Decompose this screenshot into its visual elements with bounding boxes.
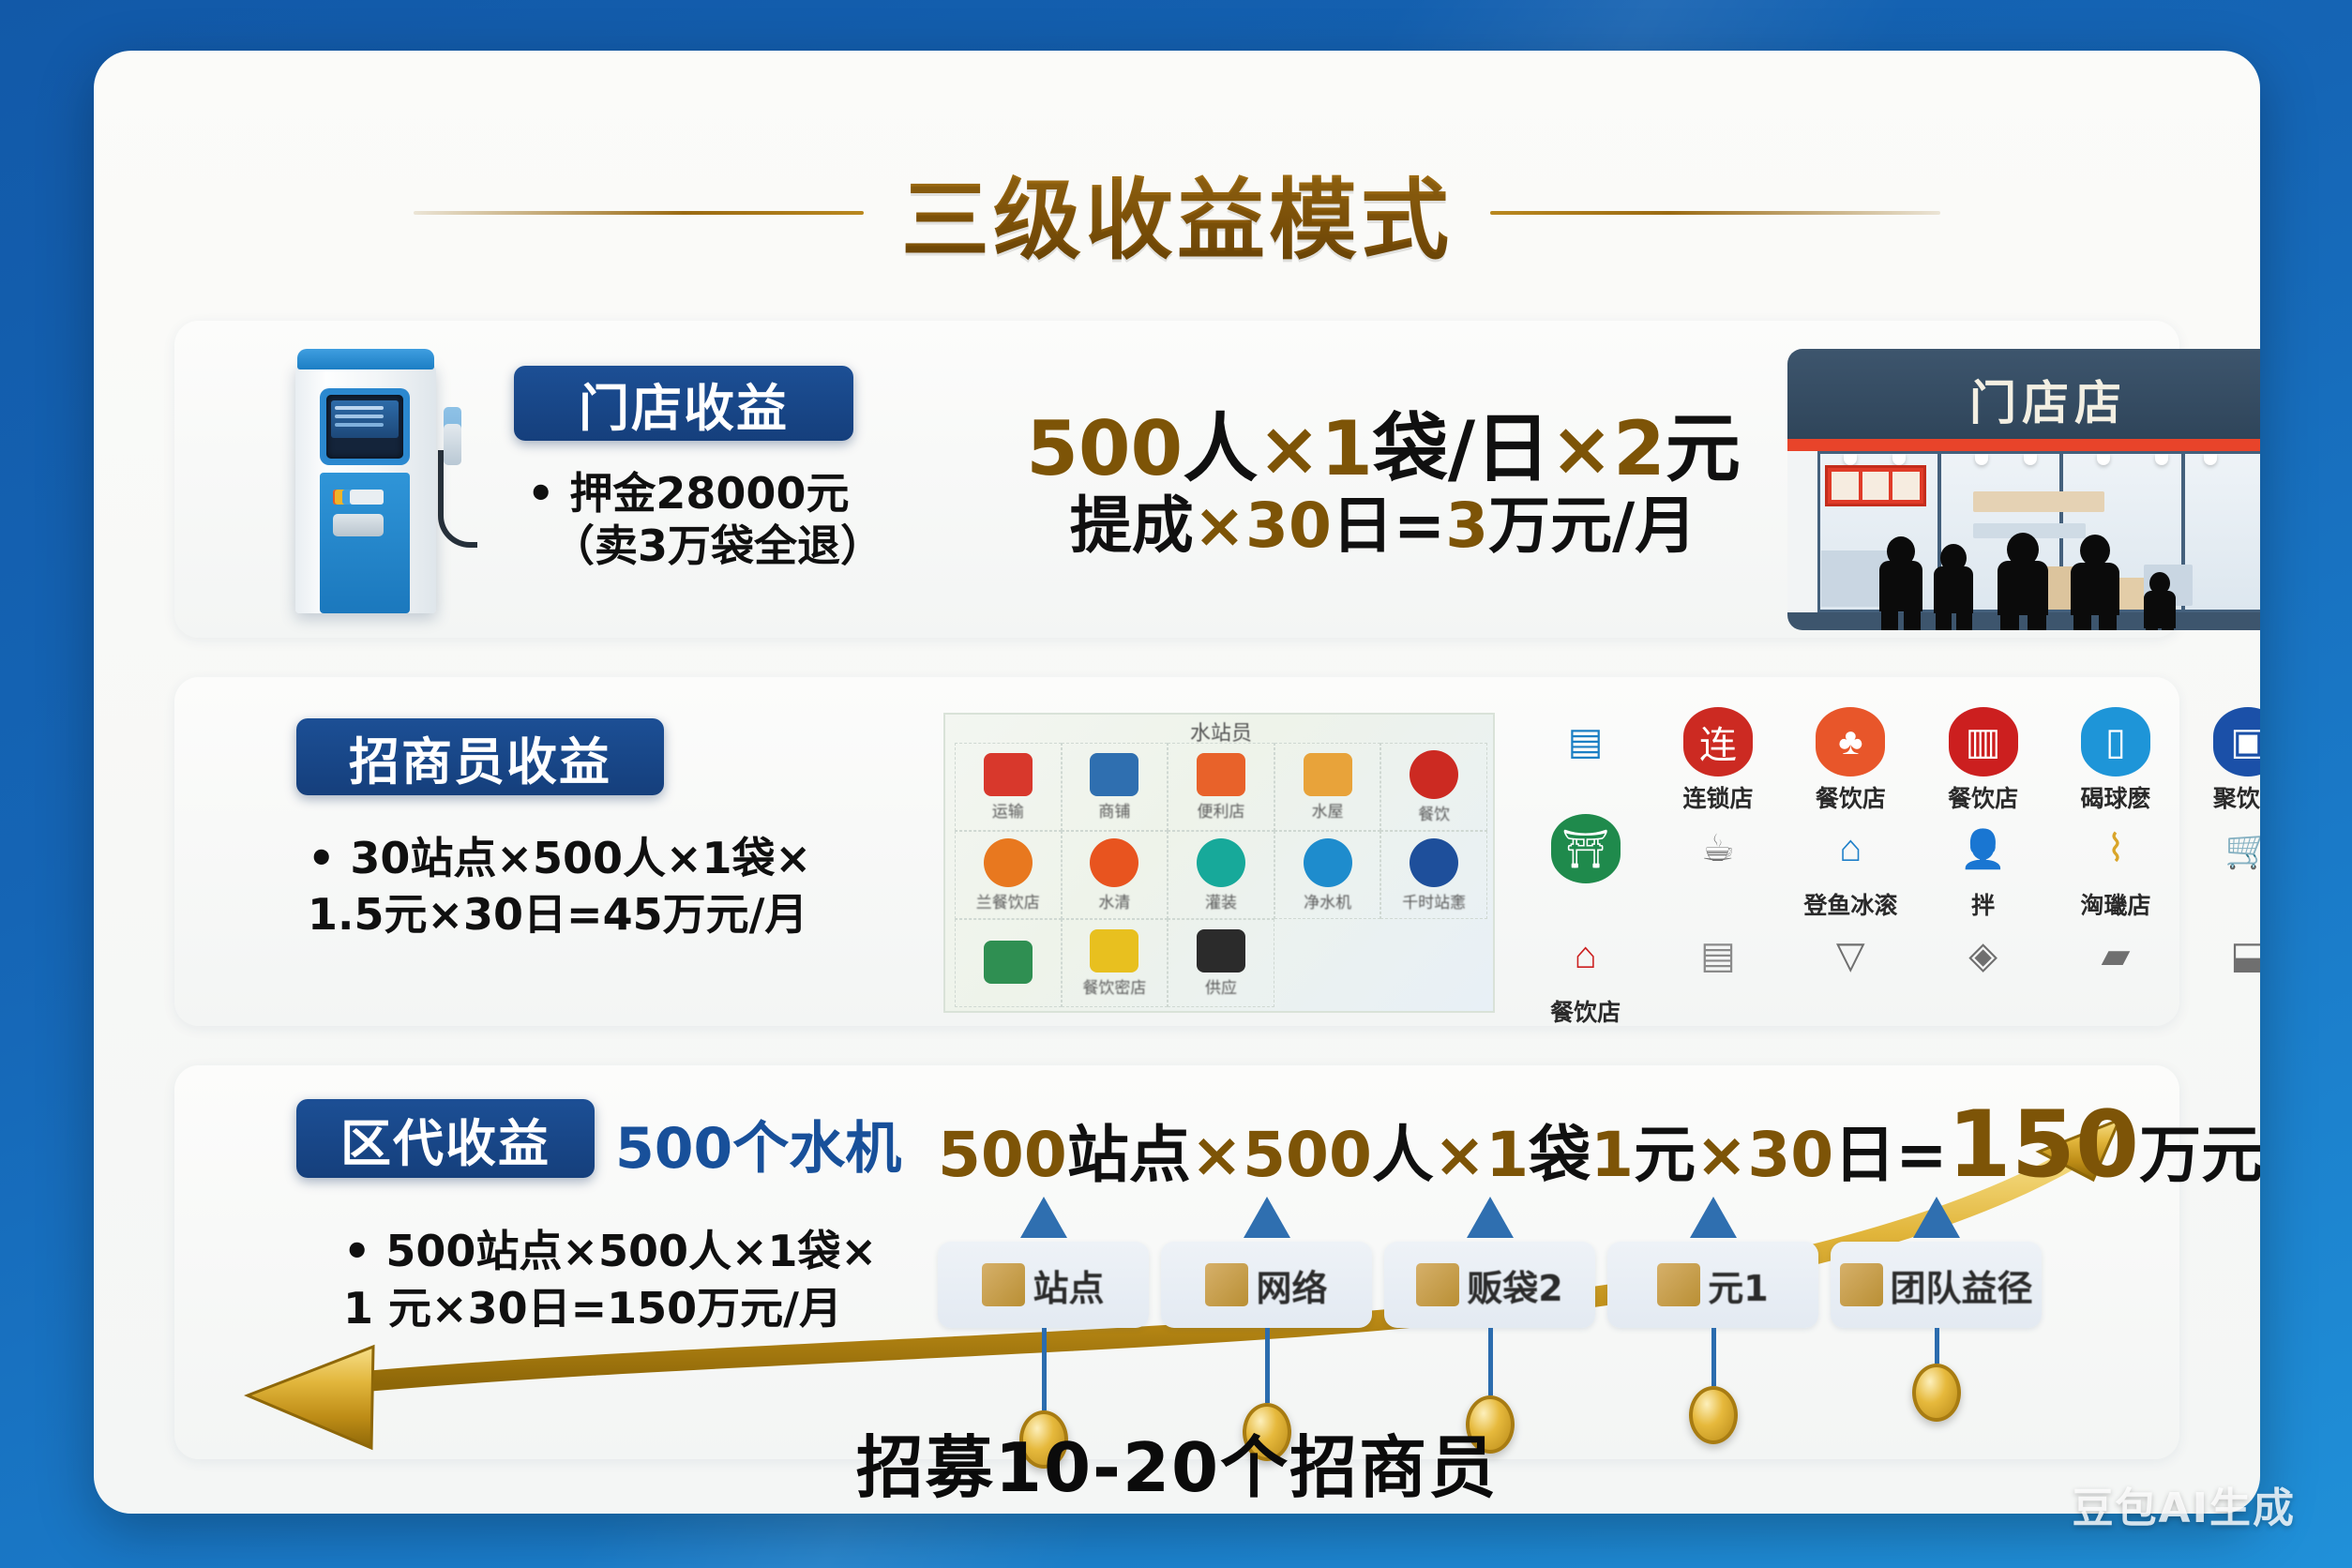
map-cell: 商铺 xyxy=(1062,743,1168,831)
map-cell: 便利店 xyxy=(1168,743,1274,831)
storefront-illustration: 门店店 xyxy=(1787,349,2260,630)
formula-token: × xyxy=(1696,1119,1747,1191)
truck-icon xyxy=(984,753,1033,796)
step-chip-label: 团队益径 xyxy=(1891,1259,2033,1311)
venue-icon-cell: ▤ xyxy=(1683,921,1753,990)
store-sign-text: 门店店 xyxy=(1787,366,2260,433)
main-card: 三级收益模式 门店收益 • 押金28000元 （卖3万袋全退） 500人×1袋/… xyxy=(94,51,2260,1514)
regional-subtitle: 500个水机 xyxy=(615,1103,901,1184)
pour-icon xyxy=(1304,838,1352,887)
formula-token: 1 xyxy=(1591,1119,1634,1191)
flame-icon xyxy=(984,838,1033,887)
watermark: 豆包AI生成 xyxy=(2073,1474,2296,1534)
venue-icon-cell: ▽ xyxy=(1816,921,1885,990)
tower-icon xyxy=(1197,929,1245,972)
step-chip-1[interactable]: 站点 xyxy=(938,1242,1149,1328)
step-chip-label: 站点 xyxy=(1033,1259,1104,1311)
venue-icon-cell: ▣聚饮店 xyxy=(2213,707,2260,814)
formula-token: 日= xyxy=(1332,490,1445,562)
map-cell xyxy=(955,919,1062,1007)
store-formula-line1: 500人×1袋/日×2元 xyxy=(1013,407,1754,491)
formula-token: 1 xyxy=(1485,1119,1529,1191)
formula-token: 元 xyxy=(1666,405,1741,492)
map-cell-label: 便利店 xyxy=(1197,798,1244,822)
map-cell-label: 水清 xyxy=(1098,889,1130,912)
venue-icon-cell: ▯碣球麽 xyxy=(2080,707,2150,814)
water-vending-machine-icon xyxy=(295,349,469,616)
up-arrow-icon xyxy=(1244,1197,1290,1238)
badge-agent-income: 招商员收益 xyxy=(296,718,664,795)
trash-icon: ▽ xyxy=(1816,921,1885,990)
venue-icon-cell: ⌂餐饮店 xyxy=(1550,921,1621,1028)
venue-icon-cell: ⌂登鱼冰滚 xyxy=(1803,814,1897,921)
money-icon xyxy=(1657,1263,1700,1306)
locker-icon xyxy=(1410,838,1458,887)
store-income-bullets: • 押金28000元 （卖3万袋全退） xyxy=(527,467,968,572)
up-arrow-icon xyxy=(1913,1197,1960,1238)
step-chip-2[interactable]: 网络 xyxy=(1161,1242,1372,1328)
building-icon xyxy=(1304,753,1352,796)
bottle-icon xyxy=(1197,838,1245,887)
column-icon: ▥ xyxy=(1949,707,2018,776)
venue-icon-cell: 👤拌 xyxy=(1949,814,2018,921)
formula-token: 500 xyxy=(1026,405,1183,492)
formula-token: × xyxy=(1194,490,1245,562)
venue-type-icon-grid: ▤连连锁店♣餐饮店▥餐饮店▯碣球麽▣聚饮店⛩☕⌂登鱼冰滚👤拌⌇洶㼄店🛒⌂餐饮店▤… xyxy=(1519,707,2260,1022)
step-chip-label: 网络 xyxy=(1256,1259,1327,1311)
formula-token: 2 xyxy=(1613,405,1666,492)
venue-icon-cell: ▰ xyxy=(2081,921,2150,990)
map-cell: 餐饮 xyxy=(1380,743,1487,831)
venue-icon-cell: 连连锁店 xyxy=(1682,707,1753,814)
banana-icon: ⌇ xyxy=(2081,814,2150,883)
formula-token: 3 xyxy=(1445,490,1488,562)
tag-icon: ◈ xyxy=(1949,921,2018,990)
formula-token: × xyxy=(1258,405,1320,492)
cup-icon xyxy=(1090,838,1138,887)
step-chip-label: 贩袋2 xyxy=(1467,1259,1562,1311)
title-rule-left xyxy=(414,211,864,215)
map-icon-grid: 运输商铺便利店水屋餐饮兰餐饮店水清灌装净水机千时站㥣餐饮密店供应 xyxy=(955,743,1487,1007)
step-chip-4[interactable]: 元1 xyxy=(1607,1242,1818,1328)
up-arrow-icon xyxy=(1020,1197,1067,1238)
map-cell-label: 净水机 xyxy=(1304,889,1351,912)
step-chip-label: 元1 xyxy=(1708,1259,1768,1311)
venue-icon-cell: ⛩ xyxy=(1551,814,1621,883)
map-cell: 灌装 xyxy=(1168,831,1274,919)
kiosk-icon xyxy=(1090,929,1138,972)
map-cell-label: 灌装 xyxy=(1205,889,1237,912)
map-cell-label: 商铺 xyxy=(1098,798,1130,822)
step-chips: 站点网络贩袋2元1团队益径 xyxy=(938,1242,2044,1345)
venue-icon-cell: ⌇洶㼄店 xyxy=(2080,814,2150,921)
store-formula: 500人×1袋/日×2元 提成×30日=3万元/月 xyxy=(1013,407,1754,561)
chip-stem xyxy=(1488,1328,1493,1395)
formula-token: 站点 xyxy=(1067,1119,1191,1191)
chip-stem xyxy=(1711,1328,1716,1386)
chip-stem xyxy=(1935,1328,1939,1364)
store-formula-line2: 提成×30日=3万元/月 xyxy=(1013,491,1754,561)
formula-token: × xyxy=(1434,1119,1485,1191)
map-cell: 运输 xyxy=(955,743,1062,831)
fridge-icon: ▤ xyxy=(1683,921,1753,990)
formula-token: 150 xyxy=(1948,1092,2140,1199)
team-icon xyxy=(1840,1263,1883,1306)
formula-token: 500 xyxy=(1243,1119,1372,1191)
regional-bullet-line2: 1 元×30日=150万元/月 xyxy=(343,1280,925,1337)
regional-income-bullets: • 500站点×500人×1袋× 1 元×30日=150万元/月 xyxy=(343,1223,925,1336)
map-cell: 供应 xyxy=(1168,919,1274,1007)
chain-store-icon: 连 xyxy=(1683,707,1753,776)
pagoda-icon: ⛩ xyxy=(1551,814,1621,883)
shop-books-icon xyxy=(1090,753,1138,796)
step-chip-3[interactable]: 贩袋2 xyxy=(1384,1242,1595,1328)
formula-token: 万元/月 xyxy=(2139,1119,2260,1191)
house-icon: ⌂ xyxy=(1551,921,1621,990)
books-icon: ▤ xyxy=(1551,707,1621,776)
formula-token: × xyxy=(1191,1119,1243,1191)
chair-icon: ⌂ xyxy=(1816,814,1885,883)
step-chip-5[interactable]: 团队益径 xyxy=(1831,1242,2042,1328)
formula-token: 元 xyxy=(1634,1119,1696,1191)
formula-token: 人 xyxy=(1372,1119,1434,1191)
venue-icon-cell: 🛒 xyxy=(2213,814,2260,883)
map-cell: 水清 xyxy=(1062,831,1168,919)
chip-stem xyxy=(1265,1328,1270,1403)
venue-icon-cell: ☕ xyxy=(1683,814,1753,883)
formula-token: 30 xyxy=(1245,490,1332,562)
bag-icon: ▰ xyxy=(2081,921,2150,990)
title-rule-right xyxy=(1490,211,1940,215)
agent-bullet-line1: • 30站点×500人×1袋× xyxy=(308,831,908,887)
map-cell: 兰餐饮店 xyxy=(955,831,1062,919)
recruit-callout: 招募10-20个招商员 xyxy=(94,1412,2260,1511)
formula-token: 人 xyxy=(1183,405,1258,492)
up-arrow-icon xyxy=(1690,1197,1737,1238)
bag-icon xyxy=(1416,1263,1459,1306)
mug-icon: ☕ xyxy=(1683,814,1753,883)
venue-icon-cell: ▥餐饮店 xyxy=(1948,707,2018,814)
formula-token: 提成 xyxy=(1070,490,1194,562)
venue-icon-label: 登鱼冰滚 xyxy=(1803,887,1897,921)
page-title: 三级收益模式 xyxy=(901,149,1453,277)
map-cell: 餐饮密店 xyxy=(1062,919,1168,1007)
map-cell-label: 千时站㥣 xyxy=(1402,889,1466,912)
coverage-map: 水站员 运输商铺便利店水屋餐饮兰餐饮店水清灌装净水机千时站㥣餐饮密店供应 xyxy=(943,713,1495,1013)
venue-icon-label: 餐饮店 xyxy=(1948,780,2018,814)
formula-token: 袋 xyxy=(1529,1119,1591,1191)
formula-token: × xyxy=(1550,405,1613,492)
person-icon: 👤 xyxy=(1949,814,2018,883)
map-cell: 千时站㥣 xyxy=(1380,831,1487,919)
backpack-icon: ▣ xyxy=(2213,707,2260,776)
map-cell: 水屋 xyxy=(1274,743,1381,831)
regional-bullet-line1: • 500站点×500人×1袋× xyxy=(343,1223,925,1280)
formula-token: 袋/日 xyxy=(1373,405,1550,492)
cart-icon: 🛒 xyxy=(2213,814,2260,883)
store-bullet-line1: • 押金28000元 xyxy=(527,468,849,519)
badge-store-income: 门店收益 xyxy=(514,366,853,441)
agent-bullet-line2: 1.5元×30日=45万元/月 xyxy=(308,887,908,943)
bus-icon xyxy=(984,941,1033,984)
map-cell-label: 供应 xyxy=(1205,974,1237,998)
up-arrow-icon xyxy=(1467,1197,1514,1238)
venue-icon-label: 拌 xyxy=(1971,887,1995,921)
venue-icon-label: 洶㼄店 xyxy=(2080,887,2150,921)
badge-regional-income: 区代收益 xyxy=(296,1099,595,1178)
map-cell-label: 运输 xyxy=(992,798,1024,822)
network-icon xyxy=(1205,1263,1248,1306)
station-icon xyxy=(982,1263,1025,1306)
regional-formula: 500站点×500人×1袋1元×30日=150万元/月 xyxy=(938,1099,2232,1191)
venue-icon-label: 餐饮店 xyxy=(1550,994,1621,1028)
venue-icon-cell: ♣餐饮店 xyxy=(1816,707,1886,814)
pot-icon: ⬓ xyxy=(2213,921,2260,990)
storefront-icon xyxy=(1197,753,1245,796)
venue-icon-cell: ◈ xyxy=(1949,921,2018,990)
venue-icon-label: 餐饮店 xyxy=(1816,780,1886,814)
venue-icon-cell: ▤ xyxy=(1551,707,1621,776)
venue-icon-label: 碣球麽 xyxy=(2080,780,2150,814)
formula-token: 500 xyxy=(938,1119,1067,1191)
map-cell-label: 水屋 xyxy=(1312,798,1344,822)
title-block: 三级收益模式 xyxy=(94,161,2260,264)
formula-token: 日= xyxy=(1833,1119,1947,1191)
map-cell-label: 兰餐饮店 xyxy=(976,889,1040,912)
store-bullet-line2: （卖3万袋全退） xyxy=(551,520,968,572)
tea-cup-icon xyxy=(1410,750,1458,799)
chip-stem xyxy=(1042,1328,1047,1410)
agent-income-bullets: • 30站点×500人×1袋× 1.5元×30日=45万元/月 xyxy=(308,831,908,943)
venue-icon-label: 聚饮店 xyxy=(2213,780,2260,814)
formula-token: 30 xyxy=(1747,1119,1833,1191)
venue-icon-label: 连锁店 xyxy=(1682,780,1753,814)
map-cell-label: 餐饮 xyxy=(1418,801,1450,824)
bottle-icon: ▯ xyxy=(2081,707,2150,776)
tree-icon: ♣ xyxy=(1816,707,1885,776)
formula-token: 1 xyxy=(1320,405,1373,492)
map-cell-label: 餐饮密店 xyxy=(1082,974,1146,998)
formula-token: 万元/月 xyxy=(1488,490,1696,562)
map-cell: 净水机 xyxy=(1274,831,1381,919)
venue-icon-cell: ⬓ xyxy=(2213,921,2260,990)
